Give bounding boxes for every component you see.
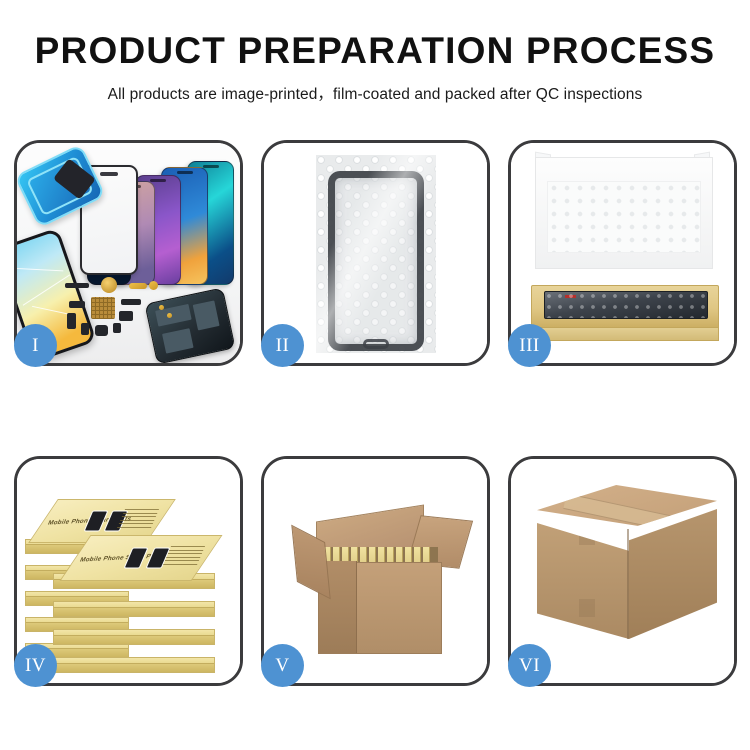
kraft-box-tray-icon xyxy=(531,285,719,329)
step-badge-1: I xyxy=(14,324,57,367)
process-step-card-2: II xyxy=(261,140,490,366)
step-badge-4: IV xyxy=(14,644,57,687)
product-preparation-page: PRODUCT PREPARATION PROCESS All products… xyxy=(0,0,750,750)
step-badge-3: III xyxy=(508,324,551,367)
page-title: PRODUCT PREPARATION PROCESS xyxy=(0,32,750,71)
carton-body-icon xyxy=(318,562,442,654)
process-step-card-4: Mobile Phone Spare Parts Mobile Phone Sp… xyxy=(14,456,243,686)
process-step-card-1: I xyxy=(14,140,243,366)
spare-parts-group xyxy=(63,279,193,355)
bubble-wrap-icon xyxy=(316,155,436,353)
foam-padding-icon xyxy=(547,181,701,253)
carton-left-face-icon xyxy=(537,523,629,639)
process-steps-grid: I II xyxy=(14,140,736,686)
open-carton-group xyxy=(294,499,466,654)
process-step-card-3: III xyxy=(508,140,737,366)
carton-edge-seam xyxy=(627,529,629,639)
box-front-lip-icon xyxy=(531,327,719,341)
process-step-card-6: VI xyxy=(508,456,737,686)
sealed-carton-group xyxy=(537,485,717,655)
wrapped-screen-in-box-icon xyxy=(544,291,708,319)
page-header: PRODUCT PREPARATION PROCESS All products… xyxy=(0,0,750,104)
process-step-card-5: V xyxy=(261,456,490,686)
film-gloss-overlay xyxy=(316,155,436,353)
step-badge-2: II xyxy=(261,324,304,367)
page-subtitle: All products are image-printed，film-coat… xyxy=(0,82,750,104)
step-badge-5: V xyxy=(261,644,304,687)
carton-right-face-icon xyxy=(629,509,717,639)
step-badge-6: VI xyxy=(508,644,551,687)
box-stack-group: Mobile Phone Spare Parts Mobile Phone Sp… xyxy=(25,477,237,667)
